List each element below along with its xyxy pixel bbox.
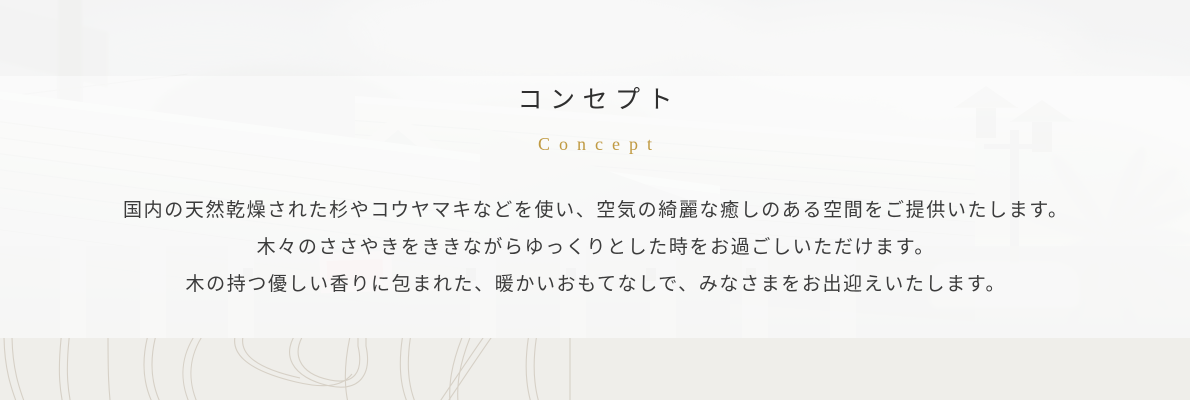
- page-title-english: Concept: [0, 132, 1190, 156]
- concept-description: 国内の天然乾燥された杉やコウヤマキなどを使い、空気の綺麗な癒しのある空間をご提供…: [0, 192, 1190, 303]
- decorative-bottom-band: [0, 338, 1190, 400]
- concept-text-block: コンセプト Concept 国内の天然乾燥された杉やコウヤマキなどを使い、空気の…: [0, 0, 1190, 338]
- line-art-decoration: [0, 338, 600, 400]
- page-title-japanese: コンセプト: [0, 86, 1190, 116]
- description-line: 国内の天然乾燥された杉やコウヤマキなどを使い、空気の綺麗な癒しのある空間をご提供…: [0, 192, 1190, 229]
- hero-background-photo: コンセプト Concept 国内の天然乾燥された杉やコウヤマキなどを使い、空気の…: [0, 0, 1190, 338]
- description-line: 木の持つ優しい香りに包まれた、暖かいおもてなしで、みなさまをお出迎えいたします。: [0, 266, 1190, 303]
- description-line: 木々のささやきをききながらゆっくりとした時をお過ごしいただけます。: [0, 229, 1190, 266]
- concept-section: コンセプト Concept 国内の天然乾燥された杉やコウヤマキなどを使い、空気の…: [0, 0, 1190, 400]
